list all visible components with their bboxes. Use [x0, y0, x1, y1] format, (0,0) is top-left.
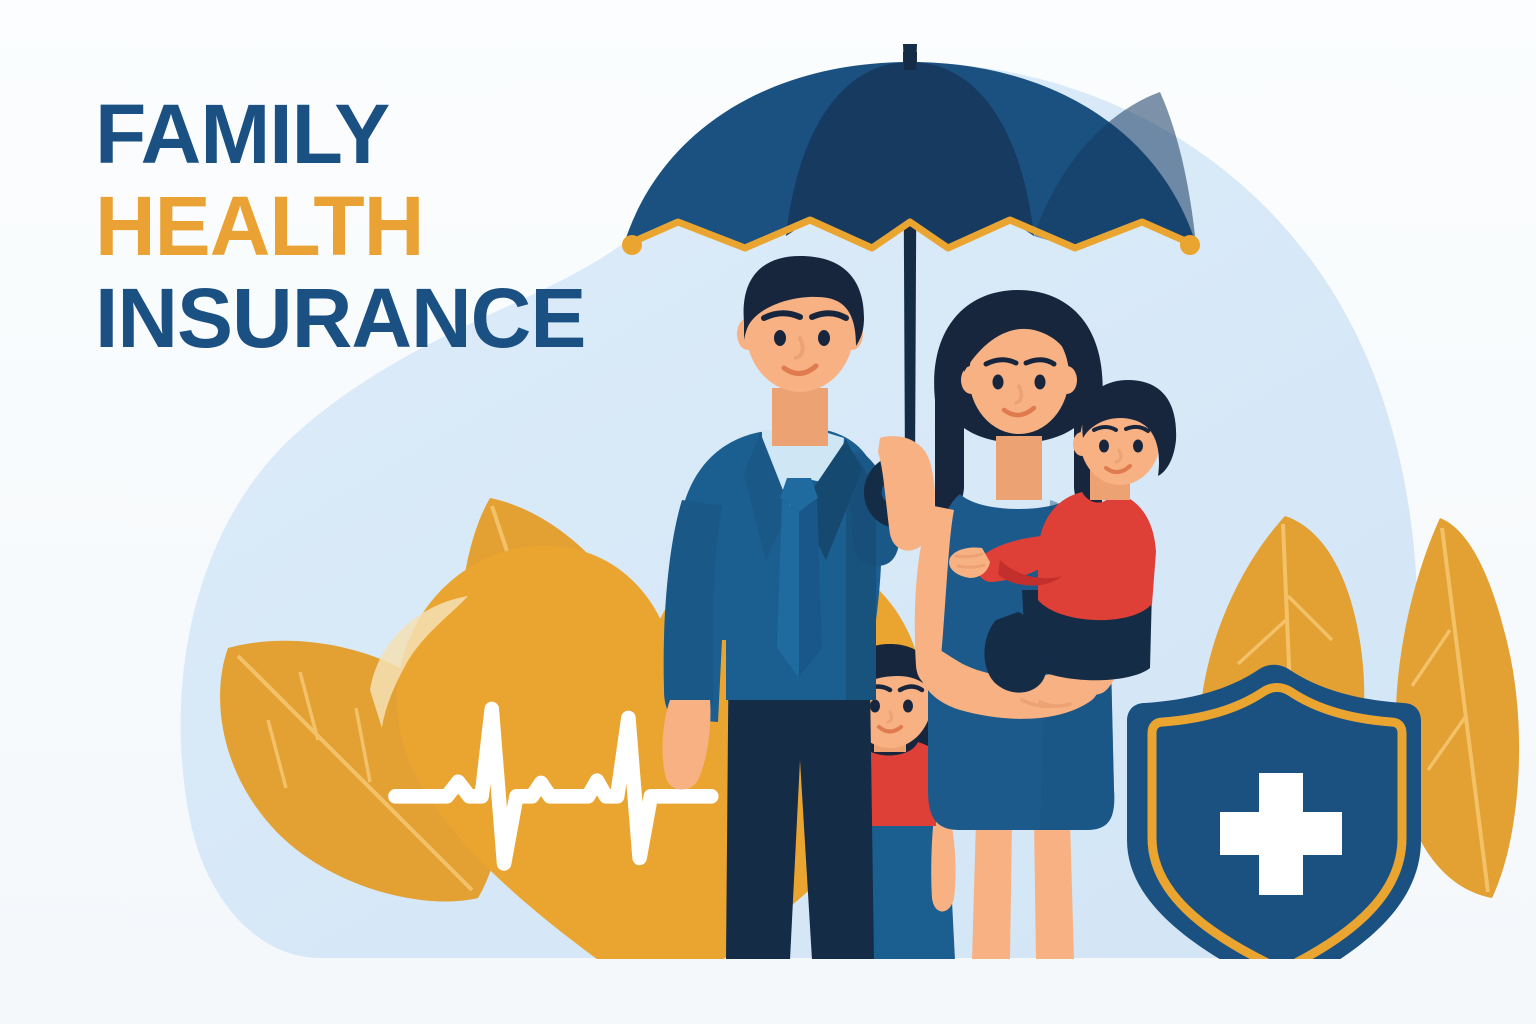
mother-leg-right — [1034, 820, 1074, 960]
headline-line-family: FAMILY — [95, 88, 715, 180]
mother-ear-right — [1057, 366, 1077, 394]
mother-eye-right — [1035, 375, 1046, 390]
son-shirt — [1038, 492, 1156, 620]
umbrella-tip-right — [1180, 235, 1200, 255]
son-eye-right — [1133, 440, 1143, 453]
mother-leg-left — [972, 820, 1012, 960]
headline-line-health: HEALTH — [95, 180, 715, 272]
daughter-eye-right — [903, 700, 913, 713]
father-eye-left — [774, 330, 786, 346]
mother-eye-left — [993, 375, 1004, 390]
son-eye-left — [1099, 440, 1109, 453]
son-ear-left — [1073, 432, 1091, 456]
father-neck — [772, 388, 828, 446]
father-eye-right — [818, 330, 830, 346]
headline-block: FAMILY HEALTH INSURANCE — [95, 88, 715, 364]
headline-line-insurance: INSURANCE — [95, 272, 715, 364]
daughter-eye-left — [870, 700, 880, 713]
umbrella-finial — [903, 44, 917, 70]
mother-neck — [996, 436, 1042, 500]
illustration-canvas: FAMILY HEALTH INSURANCE — [0, 0, 1536, 1024]
